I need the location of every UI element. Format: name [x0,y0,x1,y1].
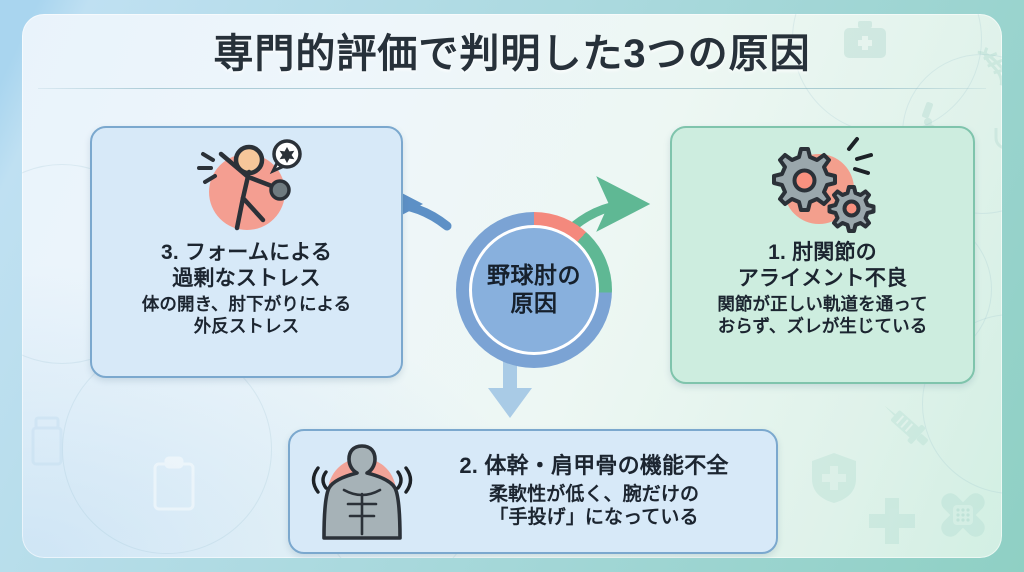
hub-label-line2: 原因 [511,290,558,318]
bandage-icon [932,484,994,546]
card-title-line1: 3. フォームによる [92,240,401,266]
slide-panel: 専門的評価で判明した3つの原因 [22,14,1002,558]
arrow-to-card-right [574,204,634,226]
torso-icon [304,438,420,546]
card-desc-line1: 体の開き、肘下がりによる [92,294,401,316]
clipboard-icon [152,456,196,512]
card-text-block: 2. 体幹・肩甲骨の機能不全 柔軟性が低く、腕だけの 「手投げ」になっている [420,453,768,530]
title-block: 専門的評価で判明した3つの原因 [22,32,1002,76]
hub-label-line1: 野球肘の [487,262,581,290]
card-title-line2: 過剰なストレス [92,266,401,292]
shield-icon [810,452,858,504]
card-desc-line2: おらず、ズレが生じている [672,316,973,338]
title-divider [38,88,986,89]
medical-cross-icon [867,496,917,546]
pill-bottle-icon [30,414,72,468]
slide-root: 専門的評価で判明した3つの原因 [0,0,1024,572]
cause-card-1[interactable]: 1. 肘関節の アライメント不良 関節が正しい軌道を通って おらず、ズレが生じて… [670,126,975,384]
hub-core: 野球肘の 原因 [469,225,599,355]
pitcher-icon [92,128,401,240]
card-title-line1: 2. 体幹・肩甲骨の機能不全 [420,453,768,480]
stethoscope-icon [990,124,1002,166]
card-desc-line1: 柔軟性が低く、腕だけの [420,483,768,507]
central-hub: 野球肘の 原因 [456,212,612,368]
page-title: 専門的評価で判明した3つの原因 [22,32,1002,76]
card-desc-line2: 外反ストレス [92,316,401,338]
gears-icon [672,128,973,240]
card-desc-line1: 関節が正しい軌道を通って [672,294,973,316]
card-desc-line2: 「手投げ」になっている [420,506,768,530]
card-title-line1: 1. 肘関節の [672,240,973,266]
card-title-line2: アライメント不良 [672,266,973,292]
cause-card-3[interactable]: 3. フォームによる 過剰なストレス 体の開き、肘下がりによる 外反ストレス [90,126,403,378]
cause-card-2[interactable]: 2. 体幹・肩甲骨の機能不全 柔軟性が低く、腕だけの 「手投げ」になっている [288,429,778,554]
